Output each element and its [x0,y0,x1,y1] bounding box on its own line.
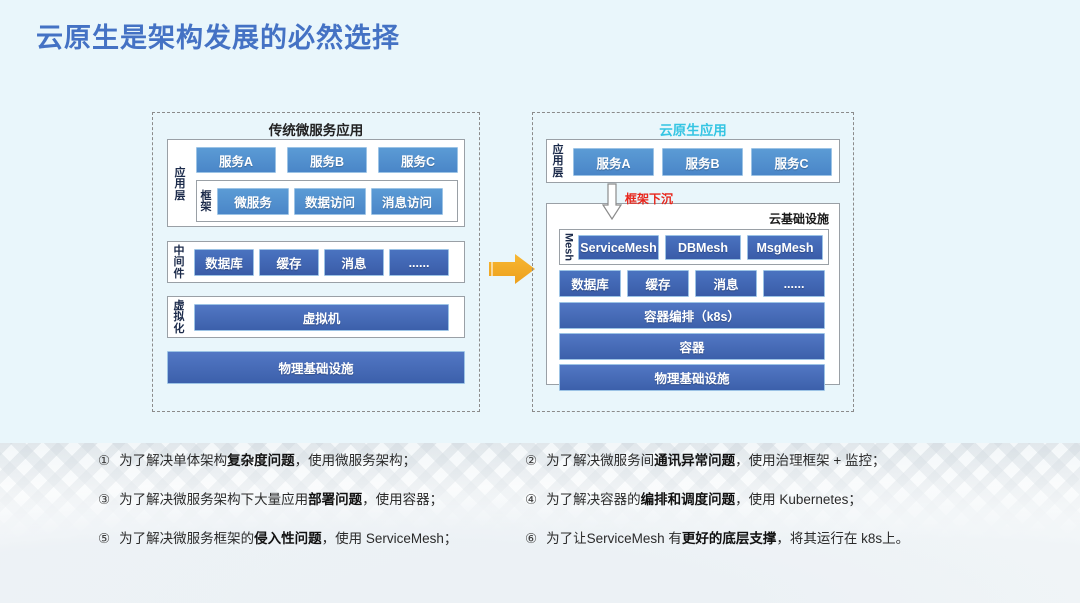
cloud-stack-box-orchestration[interactable]: 容器编排（k8s） [559,302,825,329]
label-char: 层 [553,168,564,180]
cloud-stack-box-physical-infrastructure[interactable]: 物理基础设施 [559,364,825,391]
arrow-down-icon [601,183,623,221]
bullet-item: ① 为了解决单体架构复杂度问题，使用微服务架构； [98,452,528,470]
left-virtualization-group: 虚 拟 化 虚拟机 [167,296,465,338]
bullet-text: 为了让ServiceMesh 有更好的底层支撑，将其运行在 k8s上。 [546,530,909,548]
cloud-service-box-c[interactable]: 服务C [751,148,832,176]
bullet-text-strong: 复杂度问题 [227,453,295,468]
bullet-number: ⑥ [525,530,537,548]
left-middleware-label: 中 间 件 [171,246,187,280]
bullet-text-pre: 为了解决微服务框架的 [119,531,254,546]
bullet-text: 为了解决容器的编排和调度问题，使用 Kubernetes； [546,491,862,509]
middleware-box-more[interactable]: ...... [389,249,449,276]
right-panel-title: 云原生应用 [533,119,853,139]
bullet-text-strong: 通讯异常问题 [654,453,735,468]
label-char: 架 [201,202,212,214]
left-middleware-group: 中 间 件 数据库 缓存 消息 ...... [167,241,465,283]
bullet-text: 为了解决微服务间通讯异常问题，使用治理框架 + 监控； [546,452,885,470]
bullet-text-pre: 为了让ServiceMesh 有 [546,531,682,546]
mesh-label: Mesh [562,233,575,261]
framework-box-data-access[interactable]: 数据访问 [294,188,366,215]
mesh-box-msgmesh[interactable]: MsgMesh [747,235,823,260]
right-app-layer-group: 应 用 层 服务A 服务B 服务C [546,139,840,183]
left-app-layer-label: 应 用 层 [172,154,188,216]
page-title: 云原生是架构发展的必然选择 [36,16,400,55]
cloud-infrastructure-group: 云基础设施 Mesh ServiceMesh DBMesh MsgMesh 数据… [546,203,840,385]
left-physical-infrastructure-box[interactable]: 物理基础设施 [167,351,465,384]
middleware-box-database[interactable]: 数据库 [194,249,254,276]
service-box-b[interactable]: 服务B [287,147,367,173]
bullet-text-strong: 编排和调度问题 [641,492,736,507]
bullet-text-post: ，使用治理框架 + 监控； [735,453,885,468]
bullet-text-pre: 为了解决微服务架构下大量应用 [119,492,308,507]
service-box-a[interactable]: 服务A [196,147,276,173]
cloud-middleware-box-database[interactable]: 数据库 [559,270,621,297]
service-box-c[interactable]: 服务C [378,147,458,173]
virtualization-box-vm[interactable]: 虚拟机 [194,304,449,331]
bullet-number: ③ [98,491,110,509]
bullet-text-strong: 更好的底层支撑 [682,531,777,546]
bullet-item: ⑤ 为了解决微服务框架的侵入性问题，使用 ServiceMesh； [98,530,528,548]
cloud-native-panel: 云原生应用 应 用 层 服务A 服务B 服务C 云基础设施 Mesh Servi… [532,112,854,412]
left-app-layer-group: 应 用 层 服务A 服务B 服务C 框 架 微服务 数据访问 消息访问 [167,139,465,227]
bullet-text: 为了解决单体架构复杂度问题，使用微服务架构； [119,452,416,470]
cloud-middleware-box-more[interactable]: ...... [763,270,825,297]
bullet-text-strong: 部署问题 [308,492,362,507]
bullet-number: ② [525,452,537,470]
bullet-item: ⑥ 为了让ServiceMesh 有更好的底层支撑，将其运行在 k8s上。 [525,530,985,548]
mesh-box-servicemesh[interactable]: ServiceMesh [578,235,659,260]
bullet-text-post: ，使用微服务架构； [295,453,417,468]
label-char: 化 [174,324,185,336]
middleware-box-cache[interactable]: 缓存 [259,249,319,276]
framework-box-microservice[interactable]: 微服务 [217,188,289,215]
bullet-item: ④ 为了解决容器的编排和调度问题，使用 Kubernetes； [525,491,985,509]
bullet-text-pre: 为了解决微服务间 [546,453,654,468]
bullet-text-post: ，使用 Kubernetes； [735,492,862,507]
bullet-text-post: ，使用 ServiceMesh； [322,531,458,546]
mesh-box-dbmesh[interactable]: DBMesh [665,235,741,260]
bullet-text: 为了解决微服务框架的侵入性问题，使用 ServiceMesh； [119,530,457,548]
middleware-box-message[interactable]: 消息 [324,249,384,276]
mesh-group: Mesh ServiceMesh DBMesh MsgMesh [559,229,829,265]
framework-box-message-access[interactable]: 消息访问 [371,188,443,215]
bullet-column-right: ② 为了解决微服务间通讯异常问题，使用治理框架 + 监控； ④ 为了解决容器的编… [525,452,985,569]
bullet-column-left: ① 为了解决单体架构复杂度问题，使用微服务架构； ③ 为了解决微服务架构下大量应… [98,452,528,569]
bullet-text-pre: 为了解决单体架构 [119,453,227,468]
arrow-right-icon [487,252,537,286]
label-char: 件 [174,269,185,281]
bullet-number: ④ [525,491,537,509]
bullet-text-strong: 侵入性问题 [254,531,322,546]
bullet-text: 为了解决微服务架构下大量应用部署问题，使用容器； [119,491,443,509]
bullet-text-post: ，将其运行在 k8s上。 [776,531,909,546]
left-framework-label: 框 架 [199,189,213,215]
cloud-service-box-a[interactable]: 服务A [573,148,654,176]
label-char: 层 [175,191,186,203]
bullet-number: ⑤ [98,530,110,548]
traditional-microservice-panel: 传统微服务应用 应 用 层 服务A 服务B 服务C 框 架 微服务 数据访问 消… [152,112,480,412]
left-panel-title: 传统微服务应用 [153,119,479,139]
cloud-stack-box-container[interactable]: 容器 [559,333,825,360]
bullet-item: ② 为了解决微服务间通讯异常问题，使用治理框架 + 监控； [525,452,985,470]
bullet-number: ① [98,452,110,470]
framework-sink-note: 框架下沉 [625,190,673,207]
cloud-middleware-box-message[interactable]: 消息 [695,270,757,297]
right-app-layer-label: 应 用 层 [550,144,566,180]
cloud-middleware-box-cache[interactable]: 缓存 [627,270,689,297]
cloud-infrastructure-title: 云基础设施 [769,210,829,227]
left-virtualization-label: 虚 拟 化 [171,301,187,335]
bullet-text-post: ，使用容器； [362,492,443,507]
bullet-text-pre: 为了解决容器的 [546,492,641,507]
cloud-service-box-b[interactable]: 服务B [662,148,743,176]
bullet-item: ③ 为了解决微服务架构下大量应用部署问题，使用容器； [98,491,528,509]
left-framework-group: 框 架 微服务 数据访问 消息访问 [196,180,458,222]
